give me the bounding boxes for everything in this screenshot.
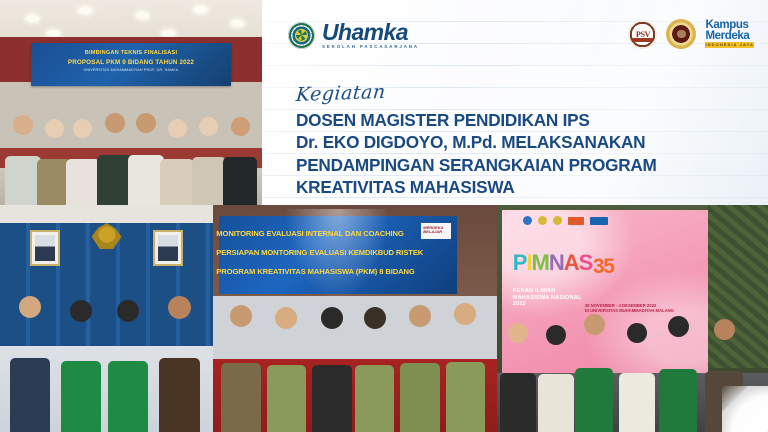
psv-seal-icon: PSV xyxy=(628,20,657,49)
psv-seal-label: PSV xyxy=(636,30,650,39)
uhamka-shield-icon xyxy=(288,22,315,49)
headline-line-3: PENDAMPINGAN SERANGKAIAN PROGRAM xyxy=(296,154,756,176)
eyebrow-label: Kegiatan xyxy=(295,68,757,106)
uhamka-brand: Uhamka SEKOLAH PASCASARJANA xyxy=(288,21,419,49)
panel-header: Uhamka SEKOLAH PASCASARJANA PSV Kampus M… xyxy=(262,0,768,72)
kampus-merdeka-line-3: INDONESIA JAYA xyxy=(705,42,754,48)
headline-copy: Kegiatan DOSEN MAGISTER PENDIDIKAN IPS D… xyxy=(296,84,756,198)
photo-bimtek-pkm: BIMBINGAN TEKNIS FINALISASI PROPOSAL PKM… xyxy=(0,0,262,205)
headline-line-2: Dr. EKO DIGDOYO, M.Pd. MELAKSANAKAN xyxy=(296,131,756,153)
kampus-merdeka-line-2: Merdeka xyxy=(705,31,754,42)
kampus-merdeka-icon: Kampus Merdeka INDONESIA JAYA xyxy=(705,20,754,48)
uhamka-subtitle: SEKOLAH PASCASARJANA xyxy=(322,44,419,49)
headline-line-1: DOSEN MAGISTER PENDIDIKAN IPS xyxy=(296,109,756,131)
people-group xyxy=(0,0,262,205)
headline-line-4: KREATIVITAS MAHASISWA xyxy=(296,176,756,198)
people-group xyxy=(0,205,213,432)
photo-monev-coaching: MONITORING EVALUASI INTERNAL DAN COACHIN… xyxy=(213,205,497,432)
people-group xyxy=(213,205,497,432)
uhamka-wordmark: Uhamka xyxy=(322,21,419,43)
page-curl-corner xyxy=(722,386,768,432)
poster-canvas: BIMBINGAN TEKNIS FINALISASI PROPOSAL PKM… xyxy=(0,0,768,432)
page-title: DOSEN MAGISTER PENDIDIKAN IPS Dr. EKO DI… xyxy=(296,109,756,198)
gold-accreditation-seal-icon xyxy=(666,19,696,49)
headline-panel: Uhamka SEKOLAH PASCASARJANA PSV Kampus M… xyxy=(262,0,768,205)
photo-blue-room xyxy=(0,205,213,432)
accreditation-badges: PSV Kampus Merdeka INDONESIA JAYA xyxy=(628,19,754,49)
